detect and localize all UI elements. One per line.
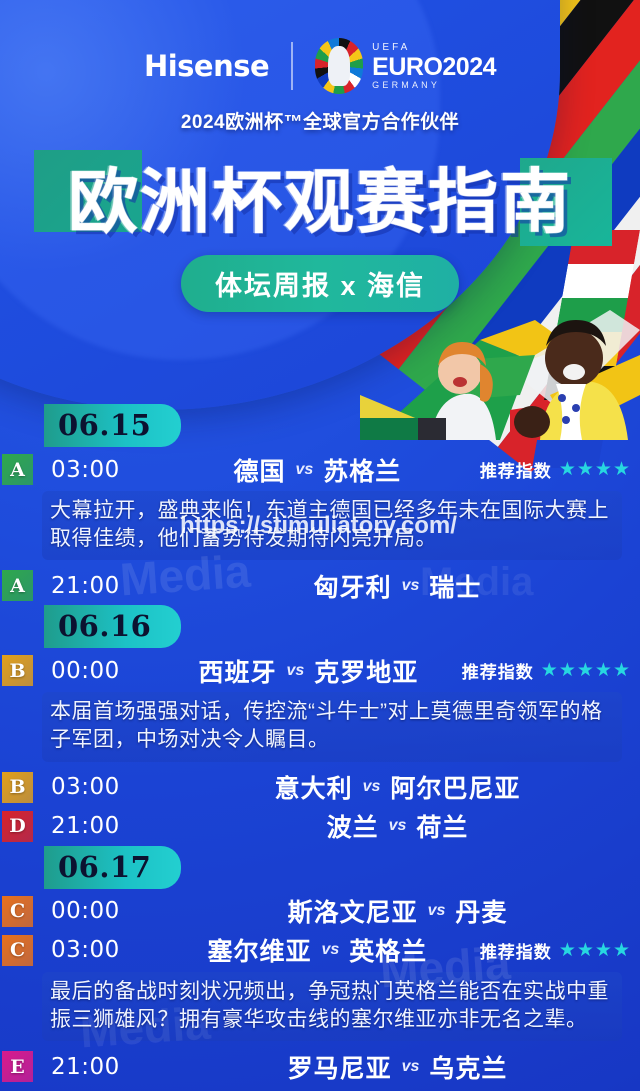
home-team: 意大利 bbox=[275, 769, 353, 805]
home-team: 罗马尼亚 bbox=[288, 1049, 392, 1085]
subtitle-pill: 体坛周报 x 海信 bbox=[181, 255, 459, 312]
match-time: 00:00 bbox=[51, 658, 155, 684]
match-time: 21:00 bbox=[51, 573, 155, 599]
euro-label: EURO2024 bbox=[372, 55, 496, 80]
star-rating: ★★★★ bbox=[559, 941, 630, 960]
match-time: 21:00 bbox=[51, 813, 155, 839]
match-teams: 匈牙利vs瑞士 bbox=[155, 568, 640, 604]
vs-label: vs bbox=[428, 902, 446, 920]
recommendation-rating: 推荐指数★★★★★ bbox=[462, 658, 640, 683]
date-badge: 06.15 bbox=[44, 404, 181, 447]
away-team: 瑞士 bbox=[429, 568, 481, 604]
recommendation-rating: 推荐指数★★★★ bbox=[480, 938, 640, 963]
rating-label: 推荐指数 bbox=[480, 938, 552, 963]
home-team: 波兰 bbox=[327, 808, 379, 844]
euro-2024-logo: UEFA EURO2024 GERMANY bbox=[315, 38, 496, 94]
star-icon: ★ bbox=[559, 941, 576, 960]
group-badge: E bbox=[2, 1051, 33, 1082]
away-team: 乌克兰 bbox=[429, 1049, 507, 1085]
match-row[interactable]: D21:00波兰vs荷兰 bbox=[0, 807, 640, 846]
match-teams: 西班牙vs克罗地亚 bbox=[155, 653, 462, 689]
star-icon: ★ bbox=[577, 460, 594, 479]
home-team: 西班牙 bbox=[198, 653, 276, 689]
page-title: 欧洲杯观赛指南 bbox=[0, 146, 640, 247]
date-section: 06.15 bbox=[0, 404, 640, 450]
match-row[interactable]: C03:00塞尔维亚vs英格兰推荐指数★★★★ bbox=[0, 931, 640, 970]
match-description: 最后的备战时刻状况频出，争冠热门英格兰能否在实战中重振三狮雄风？拥有豪华攻击线的… bbox=[42, 972, 622, 1041]
group-badge: B bbox=[2, 772, 33, 803]
away-team: 阿尔巴尼亚 bbox=[390, 769, 520, 805]
star-rating: ★★★★ bbox=[559, 460, 630, 479]
date-section: 06.16 bbox=[0, 605, 640, 651]
match-time: 03:00 bbox=[51, 937, 155, 963]
group-badge: C bbox=[2, 896, 33, 927]
hisense-logo: Hisense bbox=[144, 49, 269, 83]
rating-label: 推荐指数 bbox=[480, 457, 552, 482]
match-teams: 罗马尼亚vs乌克兰 bbox=[155, 1049, 640, 1085]
group-badge: A bbox=[2, 570, 33, 601]
vs-label: vs bbox=[402, 1058, 420, 1076]
star-icon: ★ bbox=[541, 661, 558, 680]
star-icon: ★ bbox=[595, 941, 612, 960]
home-team: 斯洛文尼亚 bbox=[288, 893, 418, 929]
poster-header: Hisense UEFA EURO2024 GERMANY 2024欧洲杯™全球… bbox=[0, 38, 640, 134]
vs-label: vs bbox=[389, 817, 407, 835]
uefa-label: UEFA bbox=[372, 43, 496, 53]
home-team: 匈牙利 bbox=[314, 568, 392, 604]
star-icon: ★ bbox=[559, 661, 576, 680]
match-time: 00:00 bbox=[51, 898, 155, 924]
home-team: 塞尔维亚 bbox=[207, 932, 311, 968]
group-badge: D bbox=[2, 811, 33, 842]
group-badge: A bbox=[2, 454, 33, 485]
away-team: 荷兰 bbox=[416, 808, 468, 844]
match-row[interactable]: C00:00斯洛文尼亚vs丹麦 bbox=[0, 892, 640, 931]
match-time: 03:00 bbox=[51, 457, 155, 483]
star-icon: ★ bbox=[613, 460, 630, 479]
match-row[interactable]: B03:00意大利vs阿尔巴尼亚 bbox=[0, 768, 640, 807]
recommendation-rating: 推荐指数★★★★ bbox=[480, 457, 640, 482]
match-teams: 塞尔维亚vs英格兰 bbox=[155, 932, 480, 968]
match-schedule: 06.15A03:00德国vs苏格兰推荐指数★★★★大幕拉开，盛典来临！东道主德… bbox=[0, 404, 640, 1086]
away-team: 英格兰 bbox=[349, 932, 427, 968]
away-team: 克罗地亚 bbox=[314, 653, 418, 689]
match-teams: 德国vs苏格兰 bbox=[155, 452, 480, 488]
away-team: 苏格兰 bbox=[323, 452, 401, 488]
star-icon: ★ bbox=[613, 941, 630, 960]
match-time: 21:00 bbox=[51, 1054, 155, 1080]
home-team: 德国 bbox=[233, 452, 285, 488]
vs-label: vs bbox=[286, 662, 304, 680]
match-teams: 斯洛文尼亚vs丹麦 bbox=[155, 893, 640, 929]
date-badge: 06.17 bbox=[44, 846, 181, 889]
star-icon: ★ bbox=[595, 460, 612, 479]
match-row[interactable]: A03:00德国vs苏格兰推荐指数★★★★ bbox=[0, 450, 640, 489]
vs-label: vs bbox=[402, 577, 420, 595]
away-team: 丹麦 bbox=[455, 893, 507, 929]
match-time: 03:00 bbox=[51, 774, 155, 800]
match-row[interactable]: A21:00匈牙利vs瑞士 bbox=[0, 566, 640, 605]
logo-row: Hisense UEFA EURO2024 GERMANY bbox=[0, 38, 640, 94]
star-icon: ★ bbox=[613, 661, 630, 680]
logo-divider bbox=[291, 42, 293, 90]
match-description: 本届首场强强对话，传控流“斗牛士”对上莫德里奇领军的格子军团，中场对决令人瞩目。 bbox=[42, 692, 622, 761]
match-teams: 意大利vs阿尔巴尼亚 bbox=[155, 769, 640, 805]
germany-label: GERMANY bbox=[372, 81, 496, 90]
star-icon: ★ bbox=[559, 460, 576, 479]
match-row[interactable]: E21:00罗马尼亚vs乌克兰 bbox=[0, 1047, 640, 1086]
star-icon: ★ bbox=[595, 661, 612, 680]
match-description: 大幕拉开，盛典来临！东道主德国已经多年未在国际大赛上取得佳绩，他们蓄势待发期待闪… bbox=[42, 491, 622, 560]
group-badge: B bbox=[2, 655, 33, 686]
star-icon: ★ bbox=[577, 661, 594, 680]
date-badge: 06.16 bbox=[44, 605, 181, 648]
match-row[interactable]: B00:00西班牙vs克罗地亚推荐指数★★★★★ bbox=[0, 651, 640, 690]
vs-label: vs bbox=[363, 778, 381, 796]
trophy-icon bbox=[315, 38, 363, 94]
star-icon: ★ bbox=[577, 941, 594, 960]
vs-label: vs bbox=[322, 941, 340, 959]
star-rating: ★★★★★ bbox=[541, 661, 630, 680]
date-section: 06.17 bbox=[0, 846, 640, 892]
rating-label: 推荐指数 bbox=[462, 658, 534, 683]
official-partner-line: 2024欧洲杯™全球官方合作伙伴 bbox=[0, 107, 640, 134]
vs-label: vs bbox=[296, 461, 314, 479]
match-teams: 波兰vs荷兰 bbox=[155, 808, 640, 844]
group-badge: C bbox=[2, 935, 33, 966]
